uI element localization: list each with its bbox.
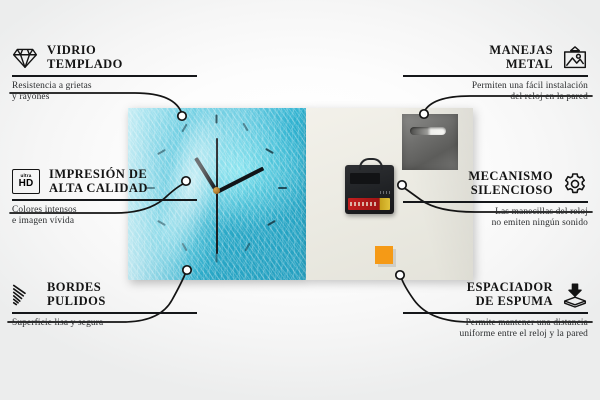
callout-subtitle-line2: no emiten ningún sonido xyxy=(403,218,588,230)
callout-subtitle-line1: Colores intensos xyxy=(12,205,197,217)
callout-title: BORDES PULIDOS xyxy=(47,281,106,308)
clock-tick xyxy=(181,124,187,133)
metal-hanger-plate xyxy=(402,114,458,170)
callout-divider xyxy=(403,312,588,314)
callout-header: ultra HD IMPRESIÓN DE ALTA CALIDAD xyxy=(12,168,197,195)
callout-title: VIDRIO TEMPLADO xyxy=(47,44,123,71)
callout-header: BORDES PULIDOS xyxy=(12,281,197,308)
clock-tick xyxy=(216,115,218,124)
callout-bordes-pulidos: BORDES PULIDOS Superficie lisa y segura xyxy=(12,281,197,329)
callout-title: ESPACIADOR DE ESPUMA xyxy=(467,281,553,308)
clock-second-hand xyxy=(216,138,218,192)
clock-hour-hand xyxy=(194,157,219,193)
clock-tick xyxy=(265,148,274,154)
clock-tick xyxy=(244,243,250,252)
callout-divider xyxy=(403,75,588,77)
callout-header: VIDRIO TEMPLADO xyxy=(12,44,197,71)
clock-second-hand-lower xyxy=(216,192,217,254)
mechanism-bar xyxy=(350,173,380,184)
callout-title: IMPRESIÓN DE ALTA CALIDAD xyxy=(49,168,148,195)
mechanism-hook xyxy=(359,158,383,170)
callout-subtitle-line2: del reloj en la pared xyxy=(403,92,588,104)
clock-tick xyxy=(278,187,287,189)
picture-frame-icon xyxy=(562,46,588,70)
hanger-slot xyxy=(410,127,446,135)
callout-header: MANEJAS METAL xyxy=(403,44,588,71)
infographic-canvas: VIDRIO TEMPLADO Resistencia a grietas y … xyxy=(0,0,600,400)
clock-tick xyxy=(157,149,166,155)
clock-center-pin xyxy=(213,187,220,194)
callout-subtitle-line2: uniforme entre el reloj y la pared xyxy=(403,329,588,341)
foam-spacer-pad xyxy=(375,246,393,264)
callout-subtitle-line1: Permite mantener una distancia xyxy=(403,318,588,330)
foam-spacer-icon xyxy=(562,283,588,307)
clock-tick xyxy=(242,123,248,132)
diamond-icon xyxy=(12,46,38,70)
clock-tick xyxy=(216,254,218,263)
callout-divider xyxy=(12,75,197,77)
callout-divider xyxy=(403,201,588,203)
gear-icon xyxy=(562,172,588,196)
callout-divider xyxy=(12,199,197,201)
callout-subtitle-line2: e imagen vívida xyxy=(12,216,197,228)
callout-divider xyxy=(12,312,197,314)
callout-espaciador-espuma: ESPACIADOR DE ESPUMA Permite mantener un… xyxy=(403,281,588,341)
battery-compartment xyxy=(348,198,390,210)
callout-vidrio-templado: VIDRIO TEMPLADO Resistencia a grietas y … xyxy=(12,44,197,104)
callout-header: ESPACIADOR DE ESPUMA xyxy=(403,281,588,308)
callout-impresion-alta-calidad: ultra HD IMPRESIÓN DE ALTA CALIDAD Color… xyxy=(12,168,197,228)
callout-subtitle-line2: y rayones xyxy=(12,92,197,104)
callout-subtitle-line1: Las manecillas del reloj xyxy=(403,207,588,219)
callout-subtitle-line1: Superficie lisa y segura xyxy=(12,318,197,330)
clock-minute-hand xyxy=(216,167,264,194)
callout-title: MANEJAS METAL xyxy=(489,44,553,71)
clock-mechanism-box xyxy=(345,165,394,214)
clock-tick xyxy=(267,220,276,226)
callout-title: MECANISMO SILENCIOSO xyxy=(468,170,553,197)
mechanism-dots xyxy=(380,191,390,194)
polished-edge-icon xyxy=(12,283,38,307)
callout-manejas-metal: MANEJAS METAL Permiten una fácil instala… xyxy=(403,44,588,104)
clock-tick xyxy=(181,243,187,252)
ultra-hd-icon: ultra HD xyxy=(12,169,40,194)
callout-subtitle-line1: Permiten una fácil instalación xyxy=(403,81,588,93)
callout-subtitle-line1: Resistencia a grietas xyxy=(12,81,197,93)
callout-header: MECANISMO SILENCIOSO xyxy=(403,170,588,197)
callout-mecanismo-silencioso: MECANISMO SILENCIOSO Las manecillas del … xyxy=(403,170,588,230)
